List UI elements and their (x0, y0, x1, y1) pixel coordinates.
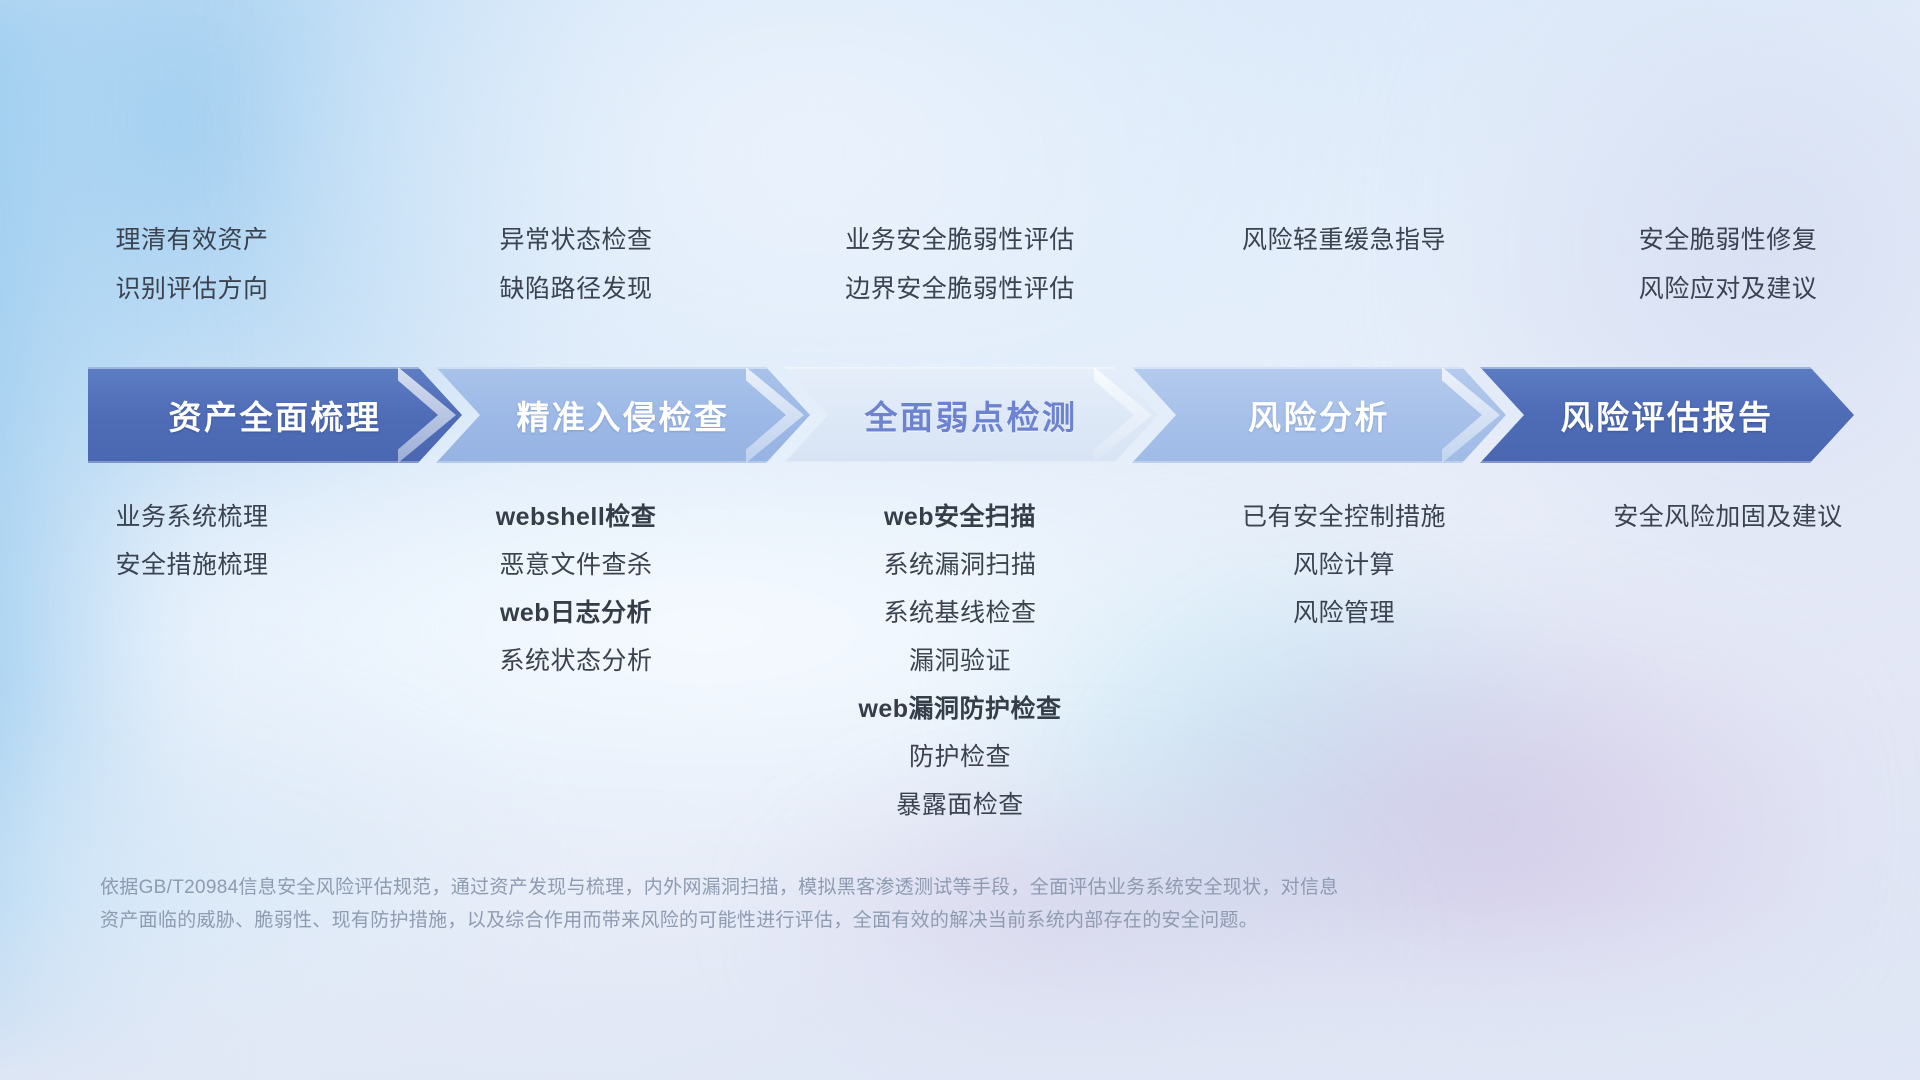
top-label: 业务安全脆弱性评估 (845, 228, 1075, 253)
bottom-label: 漏洞验证 (909, 649, 1011, 674)
bottom-labels-asset-inventory: 业务系统梳理 安全措施梳理 (0, 505, 384, 601)
bottom-label: web安全扫描 (884, 505, 1036, 530)
top-label: 边界安全脆弱性评估 (845, 277, 1075, 302)
top-label: 缺陷路径发现 (499, 277, 652, 302)
process-arrow-banner: 资产全面梳理 精准入侵检查 全面弱点检测 风险分析 风险评估报告 (88, 367, 1848, 463)
bottom-label: web日志分析 (500, 601, 652, 626)
bottom-labels-risk-analysis: 已有安全控制措施 风险计算 风险管理 (1152, 505, 1536, 649)
stage-arrow-intrusion-check[interactable]: 精准入侵检查 (436, 367, 810, 463)
bottom-labels-intrusion-check: webshell检查 恶意文件查杀 web日志分析 系统状态分析 (384, 505, 768, 697)
top-label: 安全脆弱性修复 (1639, 228, 1818, 253)
top-labels-asset-inventory: 理清有效资产 识别评估方向 (0, 228, 384, 326)
stage-arrow-label: 资产全面梳理 (169, 391, 382, 439)
stage-arrow-label: 风险评估报告 (1561, 391, 1774, 439)
stage-arrow-risk-analysis[interactable]: 风险分析 (1132, 367, 1506, 463)
top-label: 异常状态检查 (499, 228, 652, 253)
top-labels-risk-report: 安全脆弱性修复 风险应对及建议 (1536, 228, 1920, 326)
top-label: 理清有效资产 (115, 228, 268, 253)
bottom-labels-risk-report: 安全风险加固及建议 (1536, 505, 1920, 553)
stage-top-labels-row: 理清有效资产 识别评估方向 异常状态检查 缺陷路径发现 业务安全脆弱性评估 边界… (0, 228, 1920, 326)
bottom-label: 业务系统梳理 (115, 505, 268, 530)
stage-bottom-labels-row: 业务系统梳理 安全措施梳理 webshell检查 恶意文件查杀 web日志分析 … (0, 505, 1920, 841)
top-label: 风险轻重缓急指导 (1242, 228, 1446, 253)
bottom-label: 防护检查 (909, 745, 1011, 770)
bottom-label: 恶意文件查杀 (499, 553, 652, 578)
bottom-label: 系统漏洞扫描 (883, 553, 1036, 578)
top-labels-weakness-detection: 业务安全脆弱性评估 边界安全脆弱性评估 (768, 228, 1152, 326)
bottom-labels-weakness-detection: web安全扫描 系统漏洞扫描 系统基线检查 漏洞验证 web漏洞防护检查 防护检… (768, 505, 1152, 841)
top-labels-risk-analysis: 风险轻重缓急指导 (1152, 228, 1536, 326)
bottom-label: 安全风险加固及建议 (1613, 505, 1843, 530)
bottom-label: 风险管理 (1293, 601, 1395, 626)
bottom-label: 系统基线检查 (883, 601, 1036, 626)
top-label: 识别评估方向 (115, 277, 268, 302)
bottom-label: 系统状态分析 (499, 649, 652, 674)
bottom-label: 已有安全控制措施 (1242, 505, 1446, 530)
bottom-label: 风险计算 (1293, 553, 1395, 578)
footer-line-1: 依据GB/T20984信息安全风险评估规范，通过资产发现与梳理，内外网漏洞扫描，… (100, 872, 1660, 905)
bottom-label: 暴露面检查 (896, 793, 1024, 818)
bottom-label: web漏洞防护检查 (858, 697, 1061, 722)
bottom-label: 安全措施梳理 (115, 553, 268, 578)
footer-line-2: 资产面临的威胁、脆弱性、现有防护措施，以及综合作用而带来风险的可能性进行评估，全… (100, 905, 1660, 938)
bottom-label: webshell检查 (496, 505, 657, 530)
stage-arrow-weakness-detection[interactable]: 全面弱点检测 (784, 367, 1158, 463)
top-labels-intrusion-check: 异常状态检查 缺陷路径发现 (384, 228, 768, 326)
footer-description: 依据GB/T20984信息安全风险评估规范，通过资产发现与梳理，内外网漏洞扫描，… (100, 872, 1660, 937)
top-label: 风险应对及建议 (1639, 277, 1818, 302)
stage-arrow-label: 风险分析 (1248, 391, 1390, 439)
stage-arrow-asset-inventory[interactable]: 资产全面梳理 (88, 367, 462, 463)
stage-arrow-label: 精准入侵检查 (517, 391, 730, 439)
stage-arrow-risk-report[interactable]: 风险评估报告 (1480, 367, 1854, 463)
stage-arrow-label: 全面弱点检测 (865, 391, 1078, 439)
